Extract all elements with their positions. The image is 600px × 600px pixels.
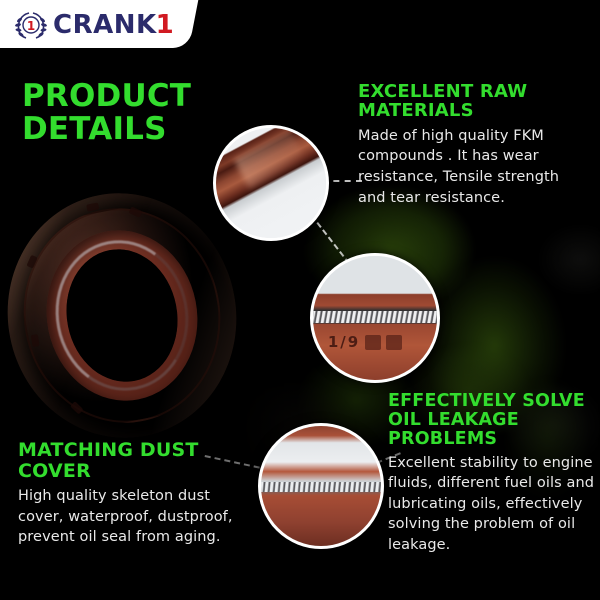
page-title-line1: PRODUCT [22,80,272,113]
callout-raw-materials [213,125,329,241]
logo-wordmark: CRANK1 [53,12,174,38]
emblem-number: 1 [27,19,35,33]
logo-text-one: 1 [156,12,175,38]
callout-sealing-lip [258,423,384,549]
seal-tab-marks [365,335,402,350]
feature-oil-leakage-body: Excellent stability to engine fluids, di… [388,453,596,556]
product-details-graphic: 1 CRANK1 PRODUCT DETAILS 1 [0,0,600,600]
logo-text-crank: CRANK [53,12,157,38]
feature-raw-materials-heading: EXCELLENT RAW MATERIALS [358,82,590,121]
feature-raw-materials: EXCELLENT RAW MATERIALS Made of high qua… [358,82,590,208]
feature-dust-cover-body: High quality skeleton dust cover, waterp… [18,486,244,548]
feature-raw-materials-body: Made of high quality FKM compounds . It … [358,126,590,208]
laurel-wreath-icon: 1 [14,9,48,41]
spring-coil-detail [313,311,437,323]
feature-dust-cover: MATCHING DUST COVER High quality skeleto… [18,440,244,548]
callout-garter-spring: 1/9 [310,253,440,383]
spring-coil-detail [261,482,381,492]
seal-marking-text: 1/9 [328,333,360,351]
feature-dust-cover-heading: MATCHING DUST COVER [18,440,244,481]
feature-oil-leakage-heading: EFFECTIVELY SOLVE OIL LEAKAGE PROBLEMS [388,392,596,449]
brand-logo: 1 CRANK1 [14,8,174,42]
seal-tab [386,335,402,350]
feature-oil-leakage: EFFECTIVELY SOLVE OIL LEAKAGE PROBLEMS E… [388,392,596,556]
seal-tab [365,335,381,350]
